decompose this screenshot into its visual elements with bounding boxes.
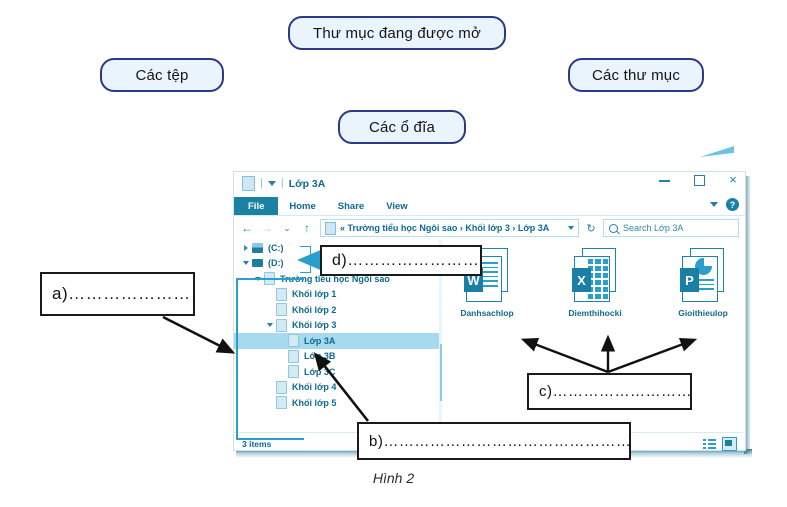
address-bar: ← → ⌄ ↑ « Trường tiểu học Ngôi sao › Khố…	[234, 216, 745, 240]
file-name: Danhsachlop	[460, 308, 513, 318]
answer-box-d[interactable]: d)……………………………	[320, 245, 482, 276]
excel-badge: X	[572, 268, 591, 292]
answer-label-d: d)……………………………	[332, 252, 482, 270]
answer-box-b[interactable]: b)……………………………………………………	[357, 422, 631, 460]
forward-button[interactable]: →	[260, 222, 274, 234]
item-count: 3 items	[242, 439, 271, 449]
ribbon-tabs: File Home Share View	[234, 197, 745, 215]
chevron-down-icon[interactable]	[240, 261, 252, 265]
breadcrumb-path: « Trường tiểu học Ngôi sao › Khối lớp 3 …	[340, 223, 549, 233]
tab-file[interactable]: File	[234, 197, 278, 215]
details-view-icon[interactable]	[703, 438, 716, 450]
tree-item-label: Lớp 3B	[304, 351, 335, 361]
breadcrumb[interactable]: « Trường tiểu học Ngôi sao › Khối lớp 3 …	[320, 219, 579, 237]
folder-icon	[325, 222, 336, 235]
quick-access-toolbar[interactable]: | | Lớp 3A	[242, 176, 325, 191]
ribbon-right-controls: ?	[710, 198, 739, 211]
answer-box-a[interactable]: a)…………………………	[40, 272, 195, 316]
search-icon	[609, 224, 618, 233]
tab-share[interactable]: Share	[327, 197, 375, 215]
close-icon[interactable]: ×	[727, 174, 739, 186]
window-title: Lớp 3A	[289, 178, 326, 190]
powerpoint-document-icon: P	[680, 248, 726, 304]
chevron-down-icon[interactable]	[568, 226, 574, 230]
minimize-icon[interactable]	[659, 174, 671, 186]
file-name: Gioithieulop	[678, 308, 728, 318]
tree-item-label: Lớp 3A	[304, 336, 335, 346]
tree-highlight-bracket	[236, 278, 304, 440]
view-mode-buttons	[703, 437, 737, 451]
window-controls: ×	[659, 174, 739, 186]
back-button[interactable]: ←	[240, 222, 254, 234]
tab-view[interactable]: View	[375, 197, 418, 215]
powerpoint-badge: P	[680, 268, 699, 292]
drives-bracket	[300, 246, 311, 273]
answer-label-b: b)……………………………………………………	[369, 433, 631, 450]
window-title-bar: | | Lớp 3A ×	[234, 172, 745, 197]
callout-label: Các tệp	[135, 67, 188, 84]
file-name: Diemthihocki	[568, 308, 621, 318]
excel-document-icon: X	[572, 248, 618, 304]
answer-label-c: c)……………………………	[539, 383, 692, 400]
tree-item-label: (D:)	[268, 258, 284, 268]
folder-icon	[242, 176, 255, 191]
callout-pointer-wedge	[700, 146, 734, 157]
search-placeholder: Search Lớp 3A	[623, 223, 683, 233]
callout-label: Thư mục đang được mở	[313, 25, 481, 42]
arrow-a	[163, 317, 232, 352]
callout-thu-muc-dang-duoc-mo: Thư mục đang được mở	[288, 16, 506, 50]
callout-cac-o-dia: Các ổ đĩa	[338, 110, 466, 144]
callout-label: Các thư mục	[592, 67, 680, 84]
callout-cac-thu-muc: Các thư mục	[568, 58, 704, 92]
chevron-right-icon[interactable]	[240, 245, 252, 251]
tab-home[interactable]: Home	[278, 197, 326, 215]
large-icons-view-icon[interactable]	[722, 437, 737, 451]
answer-box-c[interactable]: c)……………………………	[527, 373, 692, 410]
recent-locations-button[interactable]: ⌄	[280, 222, 294, 234]
divider: |	[281, 178, 284, 189]
answer-label-a: a)…………………………	[52, 284, 195, 304]
ribbon-tab-bar: File Home Share View ?	[234, 197, 745, 216]
drive-icon	[252, 259, 263, 267]
help-icon[interactable]: ?	[726, 198, 739, 211]
up-button[interactable]: ↑	[300, 222, 314, 234]
file-item-excel[interactable]: X Diemthihocki	[564, 248, 626, 318]
callout-cac-tep: Các tệp	[100, 58, 224, 92]
maximize-icon[interactable]	[693, 174, 705, 186]
tree-item-label: (C:)	[268, 243, 284, 253]
figure-caption: Hình 2	[0, 470, 787, 486]
spreadsheet-grid	[588, 259, 608, 297]
tree-item-label: Lớp 3C	[304, 367, 335, 377]
callout-label: Các ổ đĩa	[369, 119, 435, 136]
chevron-down-icon[interactable]	[268, 181, 276, 186]
refresh-icon[interactable]: ↻	[585, 222, 597, 235]
figure-stage: Các tệp Thư mục đang được mở Các thư mục…	[0, 0, 787, 507]
search-input[interactable]: Search Lớp 3A	[603, 219, 739, 237]
file-list: W Danhsachlop X Diemthi	[456, 248, 734, 318]
drive-icon	[252, 243, 263, 253]
divider: |	[260, 178, 263, 189]
chevron-down-icon[interactable]	[710, 202, 718, 207]
file-item-powerpoint[interactable]: P Gioithieulop	[672, 248, 734, 318]
